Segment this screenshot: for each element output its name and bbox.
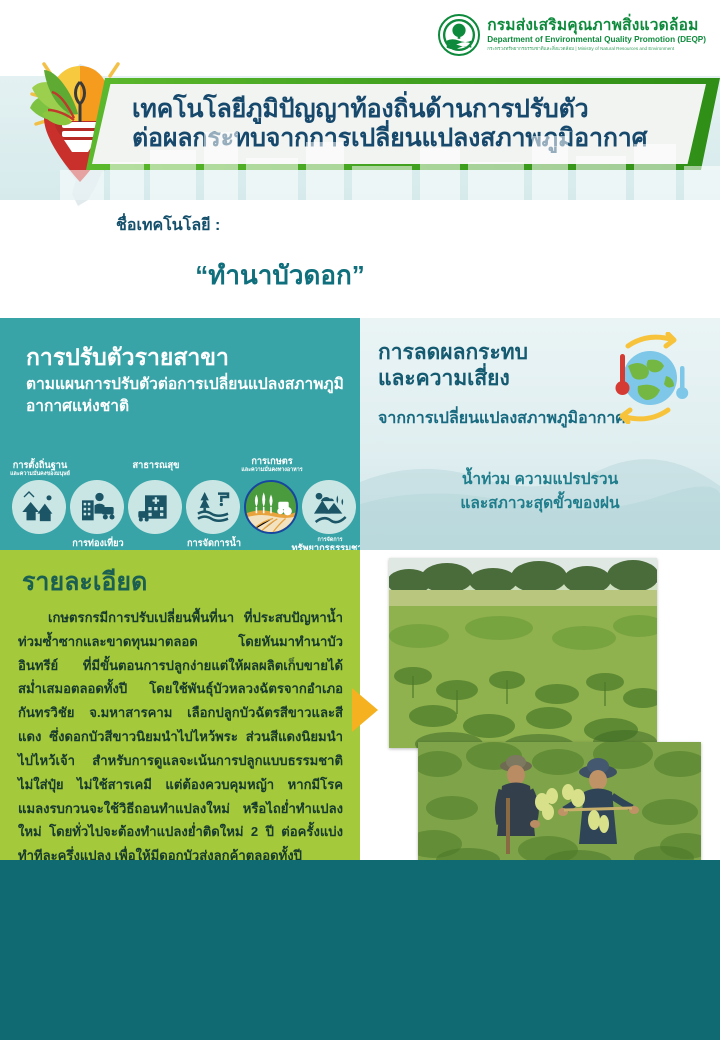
details-heading: รายละเอียด — [22, 562, 147, 602]
poster-root: กรมส่งเสริมคุณภาพสิ่งแวดล้อม Department … — [0, 0, 720, 1040]
settlement-houses-icon — [12, 480, 66, 534]
sector-item-agriculture[interactable]: การเกษตร และความมั่นคงทางอาหาร — [244, 480, 300, 534]
farmers-harvesting-lotus-photo — [418, 742, 701, 864]
city-skyline-icon — [0, 122, 720, 200]
globe-thermometer-arrows-icon — [594, 332, 702, 424]
sector-item-natural-resources[interactable]: การจัดการ ทรัพยากรธรรมชาติ — [302, 480, 358, 534]
org-name-th: กรมส่งเสริมคุณภาพสิ่งแวดล้อม — [487, 18, 706, 34]
sector-caption-settlement: การตั้งถิ่นฐาน และความมั่นคงของมนุษย์ — [0, 460, 96, 477]
header-band: กรมส่งเสริมคุณภาพสิ่งแวดล้อม Department … — [0, 0, 720, 200]
lotus-field-photo — [389, 558, 657, 748]
water-management-tap-icon — [186, 480, 240, 534]
adaptation-heading: การปรับตัวรายสาขา — [26, 340, 229, 376]
deqp-tree-seal-icon — [438, 14, 480, 56]
tourism-city-car-icon — [70, 480, 124, 534]
sector-caption-agriculture: การเกษตร และความมั่นคงทางอาหาร — [216, 456, 328, 473]
risk-line-1: น้ำท่วม ความแปรปรวน — [360, 468, 720, 492]
risk-text: น้ำท่วม ความแปรปรวน และสภาวะสุดขั้วของฝน — [360, 468, 720, 516]
sector-caption-water: การจัดการน้ำ — [158, 538, 270, 548]
details-body: เกษตรกรมีการปรับเปลี่ยนพื้นที่นา ที่ประส… — [18, 606, 343, 868]
technology-name: “ทำนาบัวดอก” — [0, 255, 560, 296]
sector-caption-tourism: การท่องเที่ยว — [42, 538, 154, 548]
risk-line-2: และสภาวะสุดขั้วของฝน — [360, 492, 720, 516]
thermometer-cold-icon — [676, 366, 688, 399]
adaptation-panel: การปรับตัวรายสาขา ตามแผนการปรับตัวต่อการ… — [0, 318, 360, 550]
public-health-hospital-icon — [128, 480, 182, 534]
sector-item-settlement[interactable]: การตั้งถิ่นฐาน และความมั่นคงของมนุษย์ — [12, 480, 68, 534]
mitigation-heading-line2: และความเสี่ยง — [378, 366, 528, 392]
sector-item-health[interactable]: สาธารณสุข — [128, 480, 184, 534]
title-line-1: เทคโนโลยีภูมิปัญญาท้องถิ่นด้านการปรับตัว — [132, 95, 686, 124]
footer-panel: สถานที่ : นายอรรถสิทธิ์ ลุนบง บ้านหัวขัว… — [0, 860, 720, 1040]
natural-resources-mountain-icon — [302, 480, 356, 534]
org-ministry: กระทรวงทรัพยากรธรรมชาติและสิ่งแวดล้อม | … — [487, 47, 706, 52]
sector-item-tourism[interactable]: การท่องเที่ยว — [70, 480, 126, 534]
arrow-right-icon — [352, 688, 378, 732]
agriculture-field-tractor-icon — [244, 480, 298, 534]
mitigation-panel: การลดผลกระทบ และความเสี่ยง จากการเปลี่ยน… — [360, 318, 720, 550]
org-name-en: Department of Environmental Quality Prom… — [487, 36, 706, 45]
mitigation-heading: การลดผลกระทบ และความเสี่ยง — [378, 340, 528, 393]
deqp-logo: กรมส่งเสริมคุณภาพสิ่งแวดล้อม Department … — [438, 14, 706, 56]
technology-label: ชื่อเทคโนโลยี : — [116, 213, 220, 238]
sector-icon-row: การตั้งถิ่นฐาน และความมั่นคงของมนุษย์ — [6, 458, 358, 548]
mitigation-heading-line1: การลดผลกระทบ — [378, 340, 528, 366]
sector-caption-health: สาธารณสุข — [100, 460, 212, 470]
sector-item-water[interactable]: การจัดการน้ำ — [186, 480, 242, 534]
adaptation-subheading: ตามแผนการปรับตัวต่อการเปลี่ยนแปลงสภาพภูม… — [26, 374, 346, 419]
mitigation-subheading: จากการเปลี่ยนแปลงสภาพภูมิอากาศ — [378, 406, 626, 431]
